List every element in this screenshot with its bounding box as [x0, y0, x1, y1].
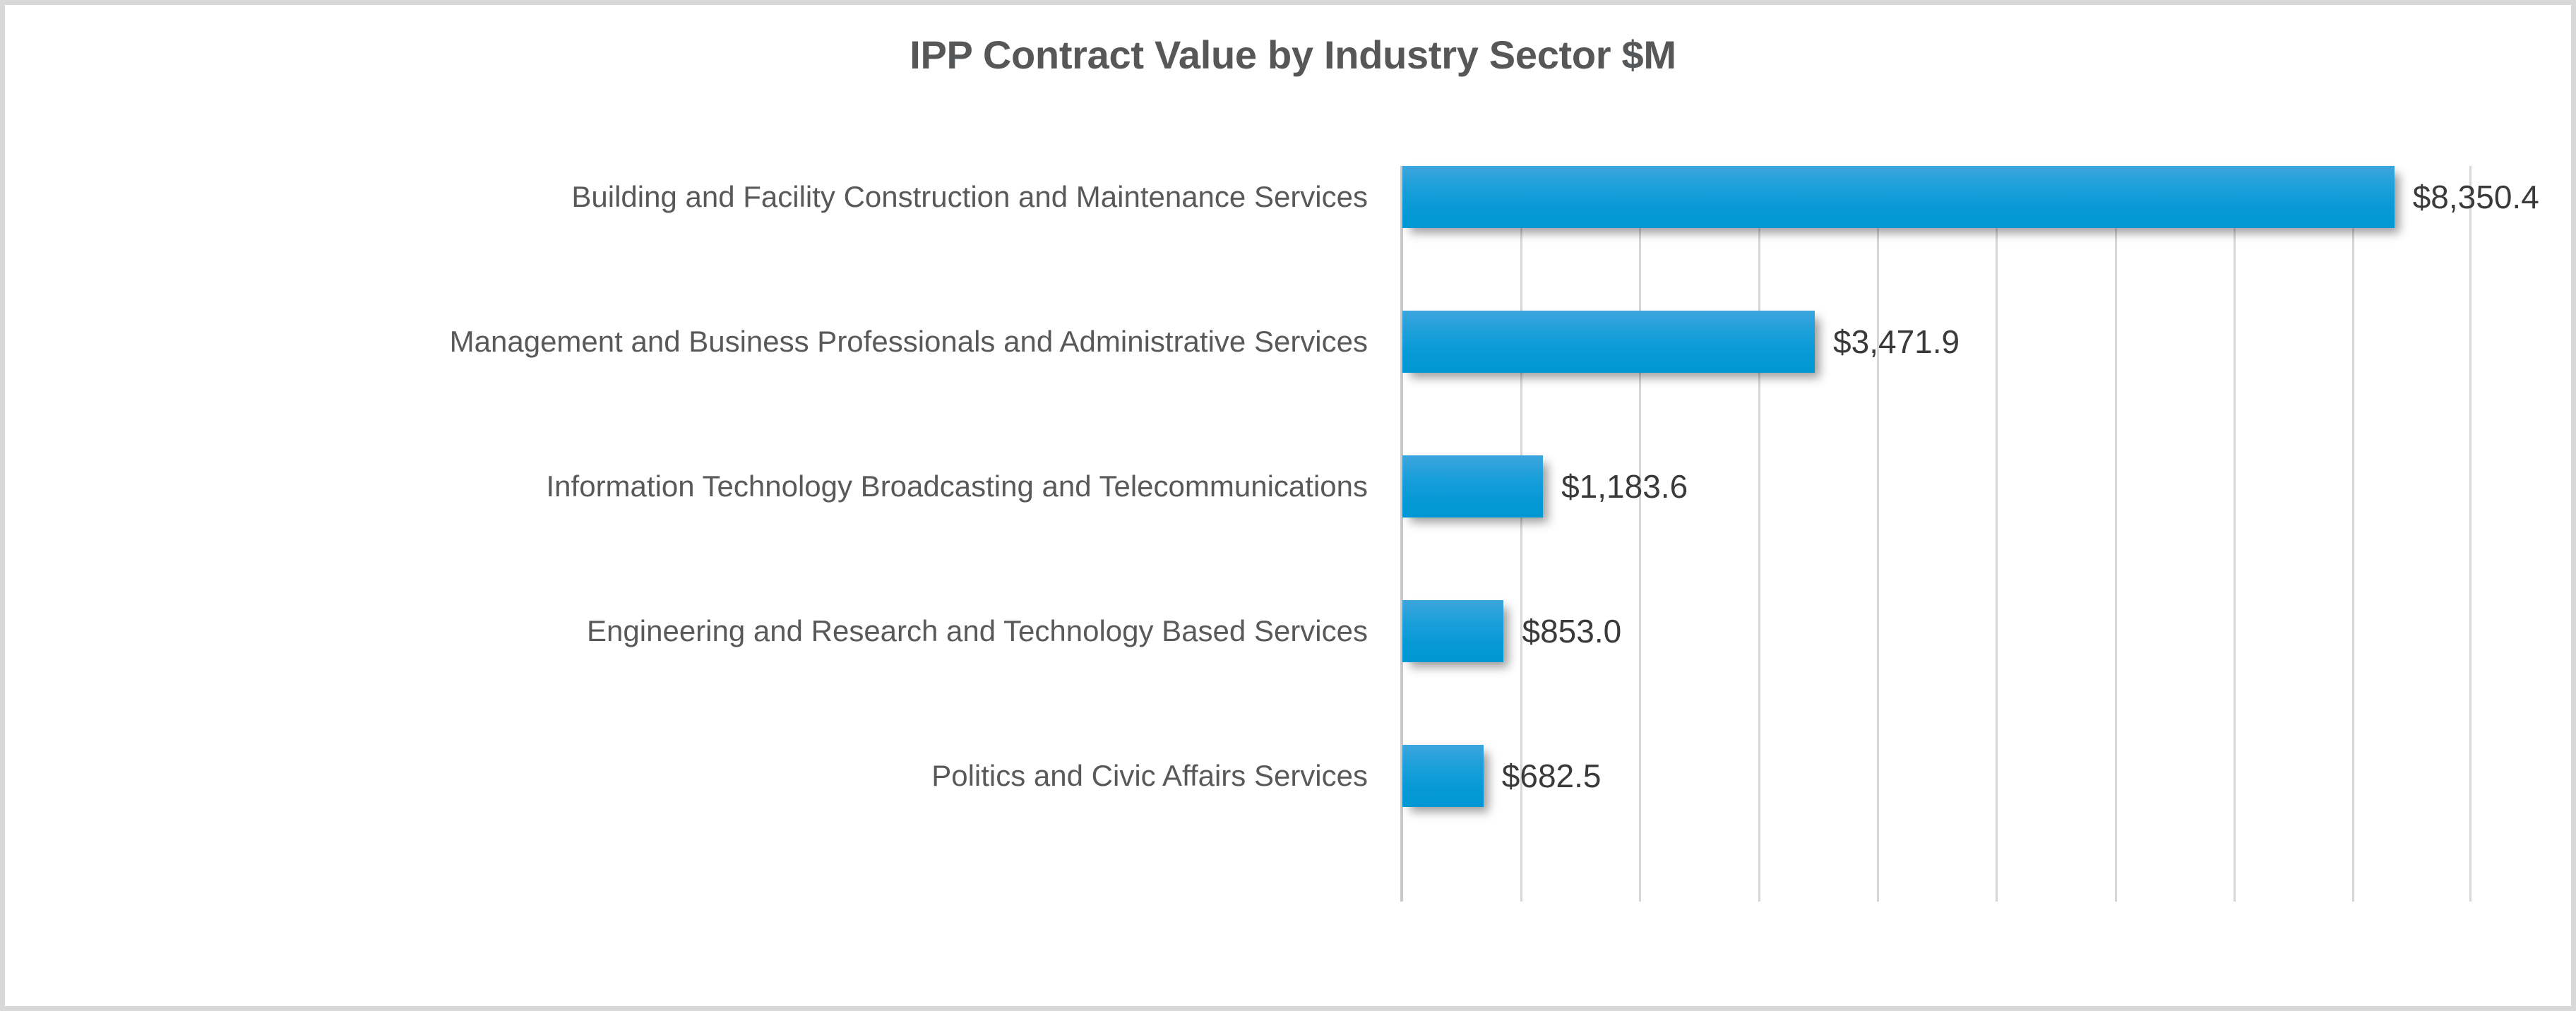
- bar[interactable]: [1402, 600, 1503, 662]
- bar-container[interactable]: [1402, 311, 1815, 373]
- category-label: Engineering and Research and Technology …: [5, 568, 1368, 695]
- bar-value-label: $682.5: [1484, 745, 1602, 807]
- bar-container[interactable]: [1402, 600, 1503, 662]
- chart-canvas: IPP Contract Value by Industry Sector $M…: [0, 0, 2576, 1011]
- bar-row: Politics and Civic Affairs Services $682…: [5, 712, 2576, 839]
- bar-row: Information Technology Broadcasting and …: [5, 423, 2576, 550]
- bar[interactable]: [1402, 166, 2395, 228]
- bar-value-label: $8,350.4: [2395, 166, 2539, 228]
- bar-value-label: $3,471.9: [1815, 311, 1960, 373]
- bar-value-label: $1,183.6: [1543, 455, 1688, 518]
- bar[interactable]: [1402, 745, 1484, 807]
- bar-container[interactable]: [1402, 166, 2395, 228]
- bar[interactable]: [1402, 311, 1815, 373]
- bar-container[interactable]: [1402, 455, 1543, 518]
- bar-row: Building and Facility Construction and M…: [5, 133, 2576, 261]
- bar-value-label: $853.0: [1503, 600, 1621, 662]
- bar-container[interactable]: [1402, 745, 1484, 807]
- category-label: Politics and Civic Affairs Services: [5, 712, 1368, 839]
- chart-title: IPP Contract Value by Industry Sector $M: [5, 32, 2576, 78]
- category-label: Information Technology Broadcasting and …: [5, 423, 1368, 550]
- bar-row: Engineering and Research and Technology …: [5, 568, 2576, 695]
- bar[interactable]: [1402, 455, 1543, 518]
- bar-row: Management and Business Professionals an…: [5, 278, 2576, 405]
- category-label: Building and Facility Construction and M…: [5, 133, 1368, 261]
- category-label: Management and Business Professionals an…: [5, 278, 1368, 405]
